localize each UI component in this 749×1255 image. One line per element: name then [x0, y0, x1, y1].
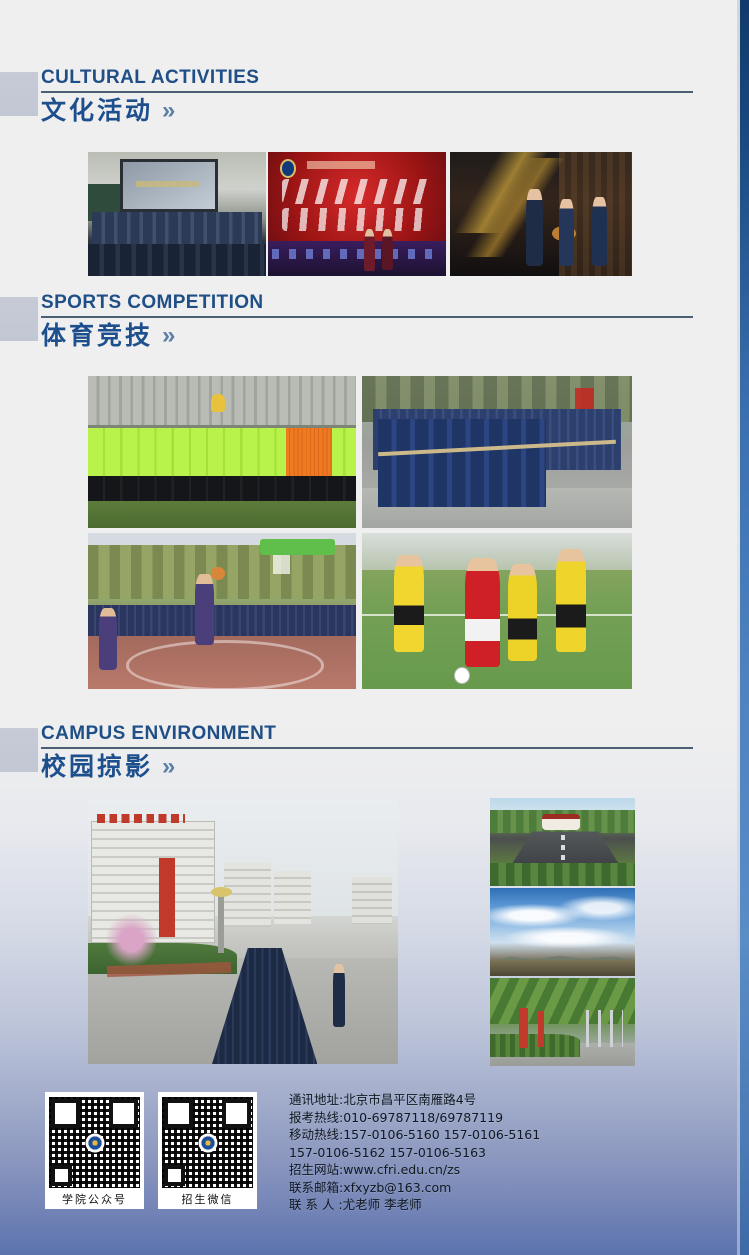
- photo-campus-gate: [490, 798, 635, 886]
- qr-emblem-icon: [198, 1133, 217, 1152]
- section-rule: [41, 91, 693, 93]
- photo-tug-of-war: [362, 376, 632, 528]
- contact-info-block: 通讯地址:北京市昌平区南雁路4号 报考热线:010-69787118/69787…: [289, 1091, 540, 1214]
- photo-campus-path: [490, 978, 635, 1066]
- qr-emblem-icon: [85, 1133, 104, 1152]
- photo-football-trophy: [88, 376, 356, 528]
- qr-code-image: [162, 1097, 253, 1188]
- right-edge-accent-strip: [740, 0, 749, 1255]
- section-accent-block: [0, 728, 38, 772]
- photo-campus-sky: [490, 888, 635, 976]
- section-title-en: CAMPUS ENVIRONMENT: [41, 722, 691, 746]
- section-title-cn: 体育竞技: [41, 321, 153, 351]
- photo-basketball-game: [88, 533, 356, 689]
- qr-code-image: [49, 1097, 140, 1188]
- contact-website[interactable]: 招生网站:www.cfri.edu.cn/zs: [289, 1161, 540, 1179]
- contact-hotline: 报考热线:010-69787118/69787119: [289, 1109, 540, 1127]
- section-header-campus-environment: CAMPUS ENVIRONMENT 校园掠影 »: [0, 722, 691, 782]
- contact-address: 通讯地址:北京市昌平区南雁路4号: [289, 1091, 540, 1109]
- photo-red-stage-banner: [268, 152, 446, 276]
- section-rule: [41, 747, 693, 749]
- contact-email[interactable]: 联系邮箱:xfxyzb@163.com: [289, 1179, 540, 1197]
- poster-page: CULTURAL ACTIVITIES 文化活动 »: [0, 0, 749, 1255]
- qr-admissions-wechat[interactable]: 招生微信: [158, 1092, 257, 1209]
- section-rule: [41, 316, 693, 318]
- photo-soccer-match: [362, 533, 632, 689]
- section-accent-block: [0, 297, 38, 341]
- section-accent-block: [0, 72, 38, 116]
- section-title-cn: 校园掠影: [41, 752, 153, 782]
- chevron-right-icon: »: [162, 754, 175, 780]
- chevron-right-icon: »: [162, 98, 175, 124]
- section-header-sports-competition: SPORTS COMPETITION 体育竞技 »: [0, 291, 691, 351]
- qr-label: 学院公众号: [62, 1191, 127, 1207]
- section-title-cn: 文化活动: [41, 96, 153, 126]
- contact-mobile-1: 移动热线:157-0106-5160 157-0106-5161: [289, 1126, 540, 1144]
- photo-concert-stage: [450, 152, 632, 276]
- contact-person: 联 系 人 :尤老师 李老师: [289, 1196, 540, 1214]
- section-title-en: SPORTS COMPETITION: [41, 291, 691, 315]
- section-title-en: CULTURAL ACTIVITIES: [41, 66, 691, 90]
- qr-label: 招生微信: [182, 1191, 234, 1207]
- photo-chorus-classroom: [88, 152, 266, 276]
- photo-campus-march: [88, 800, 398, 1064]
- section-header-cultural-activities: CULTURAL ACTIVITIES 文化活动 »: [0, 66, 691, 126]
- contact-mobile-2: 157-0106-5162 157-0106-5163: [289, 1144, 540, 1162]
- qr-official-account[interactable]: 学院公众号: [45, 1092, 144, 1209]
- chevron-right-icon: »: [162, 323, 175, 349]
